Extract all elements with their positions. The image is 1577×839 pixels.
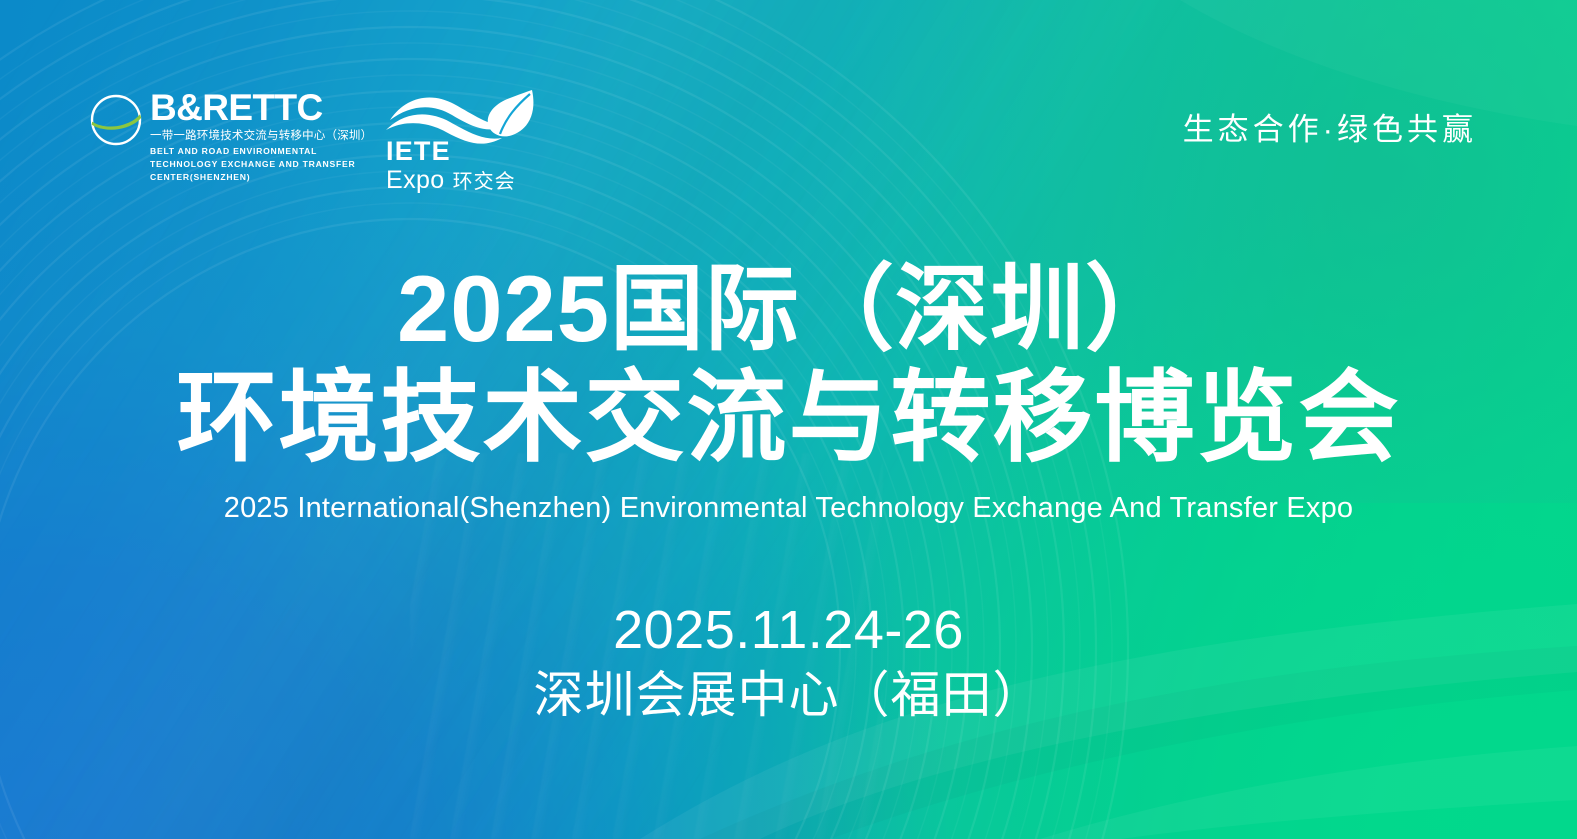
title-en: 2025 International(Shenzhen) Environment… xyxy=(0,492,1577,525)
globe-icon xyxy=(88,92,144,148)
brettc-subtitle-en-2: TECHNOLOGY EXCHANGE AND TRANSFER xyxy=(150,159,372,170)
brettc-subtitle-en-3: CENTER(SHENZHEN) xyxy=(150,172,372,183)
event-banner: B&RETTC 一带一路环境技术交流与转移中心（深圳） BELT AND ROA… xyxy=(0,0,1577,839)
main-title-block: 2025国际（深圳） 环境技术交流与转移博览会 2025 Internation… xyxy=(0,262,1577,525)
brettc-subtitle-en-1: BELT AND ROAD ENVIRONMENTAL xyxy=(150,146,372,157)
iete-expo-label-cn: 环交会 xyxy=(453,172,516,192)
banner-header: B&RETTC 一带一路环境技术交流与转移中心（深圳） BELT AND ROA… xyxy=(0,0,1577,210)
brettc-title: B&RETTC xyxy=(150,90,372,126)
iete-wordmark: IETE Expo 环交会 xyxy=(386,138,516,193)
brettc-text-group: B&RETTC 一带一路环境技术交流与转移中心（深圳） BELT AND ROA… xyxy=(150,90,372,184)
title-cn-line-1: 2025国际（深圳） xyxy=(0,262,1577,356)
logo-divider xyxy=(368,92,369,188)
event-venue: 深圳会展中心（福田） xyxy=(0,669,1577,722)
event-info-block: 2025.11.24-26 深圳会展中心（福田） xyxy=(0,602,1577,721)
event-date: 2025.11.24-26 xyxy=(0,602,1577,659)
brettc-subtitle-cn: 一带一路环境技术交流与转移中心（深圳） xyxy=(150,129,372,143)
title-cn-line-2: 环境技术交流与转移博览会 xyxy=(0,368,1577,468)
brettc-logo: B&RETTC 一带一路环境技术交流与转移中心（深圳） BELT AND ROA… xyxy=(88,90,372,184)
iete-expo-label: Expo xyxy=(386,168,445,193)
iete-expo-logo: IETE Expo 环交会 xyxy=(384,86,540,194)
event-slogan: 生态合作·绿色共赢 xyxy=(1183,104,1477,149)
iete-acronym: IETE xyxy=(386,138,516,165)
